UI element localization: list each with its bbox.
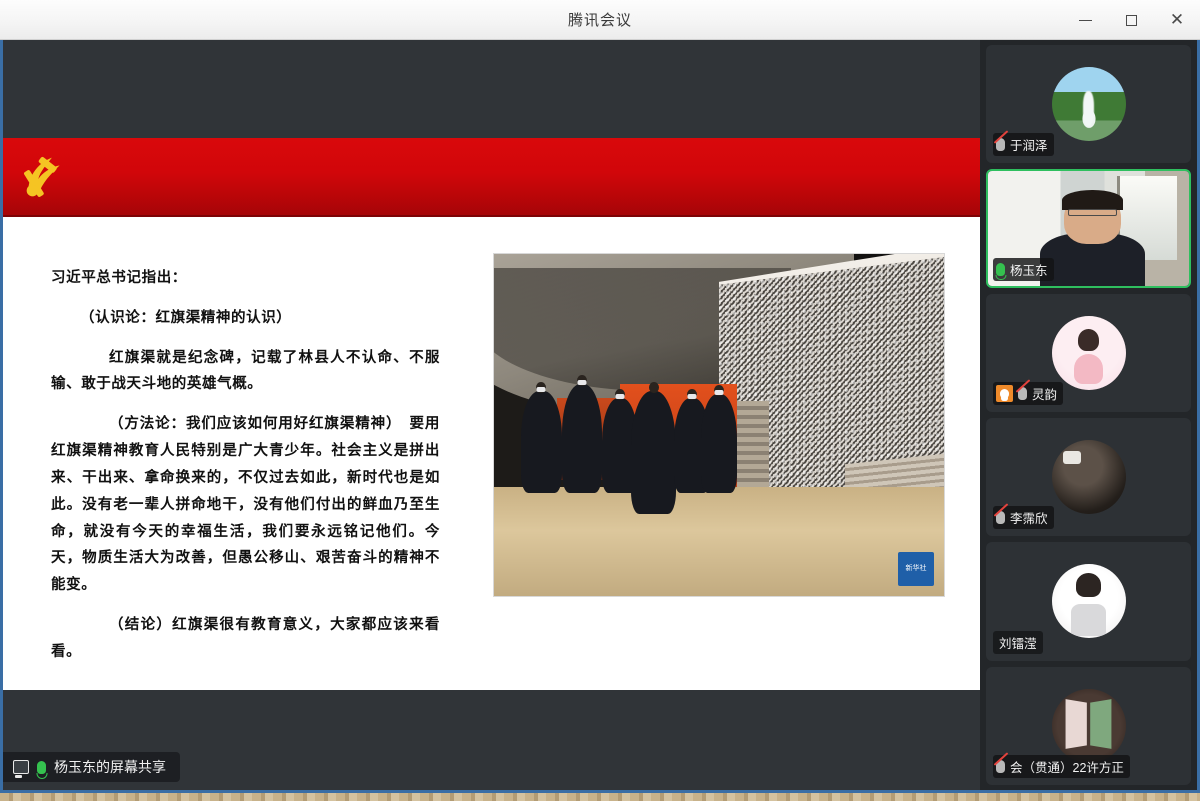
open-book-avatar xyxy=(1052,689,1126,763)
slide-paragraph-epistemology-head: （认识论：红旗渠精神的认识） xyxy=(51,305,440,332)
participant-name: 灵韵 xyxy=(1032,384,1057,403)
tencent-meeting-window: 腾讯会议 ✕ xyxy=(0,0,1200,801)
participant-tile[interactable]: 李霈欣 xyxy=(986,418,1191,536)
meeting-body: 习近平总书记指出： （认识论：红旗渠精神的认识） 红旗渠就是纪念碑，记载了林县人… xyxy=(0,40,1200,793)
slide-paragraph-epistemology-body: 红旗渠就是纪念碑，记载了林县人不认命、不服输、敢于战天斗地的英雄气概。 xyxy=(51,345,440,399)
slide-photo-column: 新华社 xyxy=(458,217,980,690)
participant-name: 杨玉东 xyxy=(1010,260,1048,279)
window-title: 腾讯会议 xyxy=(568,9,632,30)
participant-name-plate: 于润泽 xyxy=(993,133,1054,156)
participant-tile[interactable]: 于润泽 xyxy=(986,45,1191,163)
slide-text-column: 习近平总书记指出： （认识论：红旗渠精神的认识） 红旗渠就是纪念碑，记载了林县人… xyxy=(3,217,458,690)
host-badge-icon xyxy=(996,385,1013,402)
mic-on-icon xyxy=(37,761,46,774)
waterfall-avatar xyxy=(1052,67,1126,141)
participant-tile[interactable]: 会（贯通）22许方正 xyxy=(986,667,1191,785)
photo-person-mask xyxy=(577,380,586,385)
presentation-slide: 习近平总书记指出： （认识论：红旗渠精神的认识） 红旗渠就是纪念碑，记载了林县人… xyxy=(3,138,980,690)
slide-paragraph-lead: 习近平总书记指出： xyxy=(51,265,440,292)
screen-share-label: 杨玉东的屏幕共享 xyxy=(54,757,166,777)
monitor-icon xyxy=(13,760,29,774)
desktop-taskbar-sliver xyxy=(0,793,1200,801)
window-controls: ✕ xyxy=(1062,0,1200,40)
photo-person-leader xyxy=(631,391,676,514)
participant-name: 会（贯通）22许方正 xyxy=(1010,757,1124,776)
mic-off-icon xyxy=(996,760,1005,773)
video-person-hair xyxy=(1062,190,1122,211)
mic-off-icon xyxy=(996,511,1005,524)
photo-person-mask xyxy=(616,394,625,399)
minimize-icon xyxy=(1079,20,1092,21)
girl-photo-avatar xyxy=(1052,564,1126,638)
photo-person-mask xyxy=(537,387,546,392)
participant-name-plate: 会（贯通）22许方正 xyxy=(993,755,1130,778)
photo-person xyxy=(521,391,562,494)
maximize-button[interactable] xyxy=(1108,0,1154,40)
participant-name: 于润泽 xyxy=(1010,135,1048,154)
photo-floor xyxy=(494,487,944,596)
photo-person-mask xyxy=(715,390,724,395)
photo-person-mask xyxy=(688,394,697,399)
participant-name-plate: 杨玉东 xyxy=(993,258,1054,281)
shared-screen-stage[interactable]: 习近平总书记指出： （认识论：红旗渠精神的认识） 红旗渠就是纪念碑，记载了林县人… xyxy=(3,40,980,790)
video-person-glasses xyxy=(1068,209,1116,216)
participant-tile[interactable]: 灵韵 xyxy=(986,294,1191,412)
participant-rail[interactable]: 于润泽 杨玉东 xyxy=(980,40,1197,790)
maximize-icon xyxy=(1126,15,1137,26)
participant-name-plate: 李霈欣 xyxy=(993,506,1054,529)
participant-name: 李霈欣 xyxy=(1010,508,1048,527)
slide-red-banner xyxy=(3,138,980,217)
mic-off-icon xyxy=(1018,387,1027,400)
participant-name-plate: 刘镭滢 xyxy=(993,631,1043,654)
screen-share-status-bar: 杨玉东的屏幕共享 xyxy=(3,752,180,782)
minimize-button[interactable] xyxy=(1062,0,1108,40)
anime-girl-avatar xyxy=(1052,316,1126,390)
close-button[interactable]: ✕ xyxy=(1154,0,1200,40)
photo-person xyxy=(562,384,603,493)
participant-tile[interactable]: 刘镭滢 xyxy=(986,542,1191,660)
participant-tile-active-speaker[interactable]: 杨玉东 xyxy=(986,169,1191,287)
photo-person xyxy=(701,394,737,493)
hammer-and-sickle-icon xyxy=(17,146,79,208)
participant-name: 刘镭滢 xyxy=(999,633,1037,652)
close-icon: ✕ xyxy=(1170,12,1184,29)
slide-content: 习近平总书记指出： （认识论：红旗渠精神的认识） 红旗渠就是纪念碑，记载了林县人… xyxy=(3,217,980,690)
photo-person-head xyxy=(649,382,659,393)
title-bar: 腾讯会议 ✕ xyxy=(0,0,1200,40)
slide-paragraph-methodology: （方法论：我们应该如何用好红旗渠精神） 要用红旗渠精神教育人民特别是广大青少年。… xyxy=(51,411,440,599)
dark-photo-avatar xyxy=(1052,440,1126,514)
mic-on-icon xyxy=(996,263,1005,276)
slide-paragraph-conclusion: （结论）红旗渠很有教育意义，大家都应该来看看。 xyxy=(51,612,440,666)
photo-watermark: 新华社 xyxy=(898,552,934,586)
slide-photo: 新华社 xyxy=(493,253,945,597)
participant-name-plate: 灵韵 xyxy=(993,382,1063,405)
mic-off-icon xyxy=(996,138,1005,151)
